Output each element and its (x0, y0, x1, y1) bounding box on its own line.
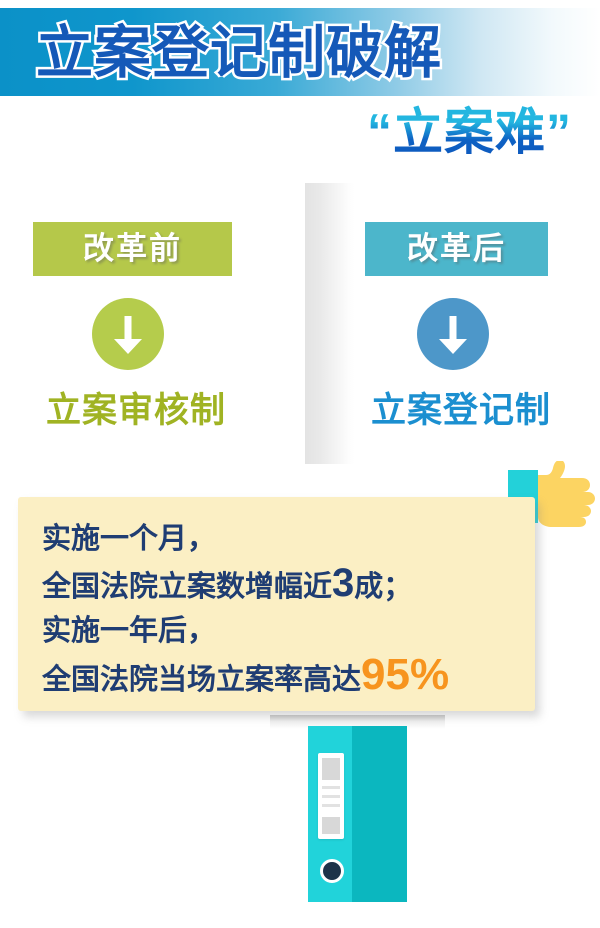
page-subtitle-wrap: “立案难” (0, 100, 572, 164)
compare-label-after: 立案登记制 (340, 382, 582, 433)
stat-line-4-prefix: 全国法院当场立案率高达 (42, 664, 361, 696)
binder-ring-hole (320, 859, 344, 883)
infographic-page: 立案登记制破解 “立案难” 改革前 立案审核制 改革后 立案登记制 (0, 0, 600, 928)
stat-value-growth: 3 (332, 561, 354, 605)
binder-label-rule (322, 786, 340, 789)
stat-line-2: 全国法院立案数增幅近3成； (42, 561, 522, 609)
stat-text-block: 实施一个月， 全国法院立案数增幅近3成； 实施一年后， 全国法院当场立案率高达9… (42, 517, 522, 702)
compare-label-before: 立案审核制 (15, 382, 257, 433)
binder-body (352, 726, 407, 902)
stat-highlight-card: 实施一个月， 全国法院立案数增幅近3成； 实施一年后， 全国法院当场立案率高达9… (18, 497, 535, 711)
arrow-down-icon (92, 298, 164, 370)
compare-column-before: 改革前 立案审核制 (15, 222, 257, 442)
stat-line-2-prefix: 全国法院立案数增幅近 (42, 571, 332, 603)
binder-label-block-bottom (322, 817, 340, 834)
badge-after-reform: 改革后 (365, 222, 548, 276)
page-title: 立案登记制破解 (36, 14, 576, 92)
page-subtitle: “立案难” (367, 100, 572, 164)
binder-label-block-top (322, 758, 340, 780)
binder-label-rule (322, 795, 340, 798)
stat-value-rate: 95% (361, 650, 449, 699)
stat-line-1: 实施一个月， (42, 517, 522, 561)
stat-line-2-suffix: 成； (354, 571, 412, 603)
binder-label-rule (322, 804, 340, 807)
binder-label (318, 753, 344, 839)
arrow-down-icon (417, 298, 489, 370)
stat-line-4: 全国法院当场立案率高达95% (42, 653, 522, 702)
compare-column-after: 改革后 立案登记制 (340, 222, 582, 442)
binder-folder-icon (308, 726, 407, 902)
badge-before-reform: 改革前 (33, 222, 232, 276)
stat-line-3: 实施一年后， (42, 609, 522, 653)
